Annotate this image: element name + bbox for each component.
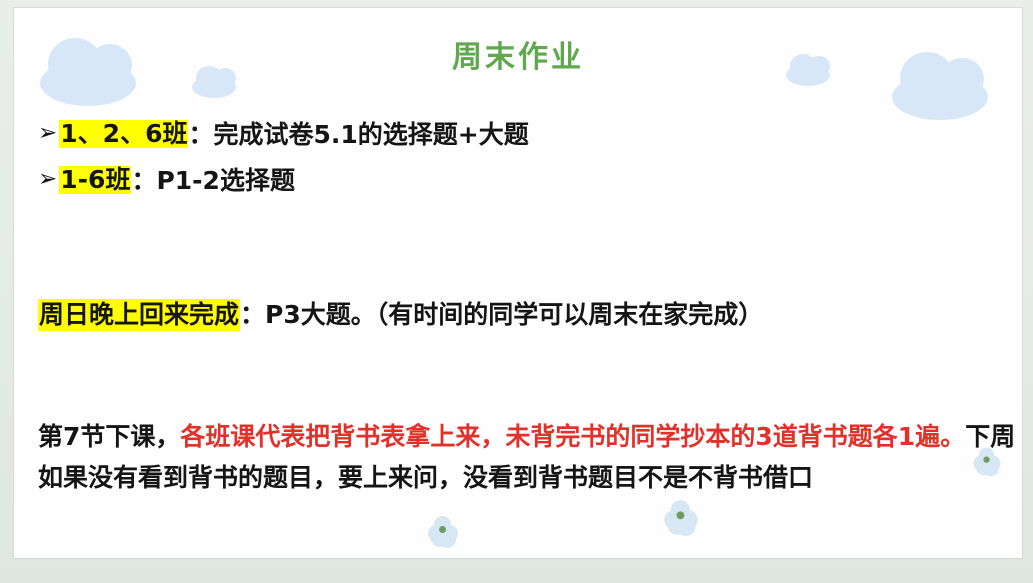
notice-paragraph: 第7节下课，各班课代表把背书表拿上来，未背完书的同学抄本的3道背书题各1遍。下周… (38, 416, 1018, 498)
notice-segment-black-1: 第7节下课， (38, 422, 180, 451)
page-title: 周末作业 (14, 32, 1022, 76)
cloud-icon (892, 74, 988, 120)
flower-icon (664, 500, 698, 534)
list-item: ➢ 1、2、6班 ：完成试卷5.1的选择题+大题 (38, 120, 1006, 148)
cloud-icon (192, 76, 236, 98)
slide-canvas: 周末作业 ➢ 1、2、6班 ：完成试卷5.1的选择题+大题 ➢ 1-6班 ：P1… (14, 8, 1022, 558)
list-item: ➢ 1-6班 ：P1-2选择题 (38, 166, 1006, 194)
sunday-deadline-highlight: 周日晚上回来完成 (38, 299, 240, 331)
arrow-bullet-icon: ➢ (38, 168, 57, 191)
sunday-deadline-line: 周日晚上回来完成：P3大题。（有时间的同学可以周末在家完成） (38, 302, 763, 327)
sunday-deadline-detail: ：P3大题。（有时间的同学可以周末在家完成） (240, 300, 763, 329)
flower-icon (428, 516, 458, 546)
list-item-detail: ：P1-2选择题 (131, 168, 295, 193)
arrow-bullet-icon: ➢ (38, 122, 57, 145)
flower-icon (974, 448, 1001, 475)
list-item-detail: ：完成试卷5.1的选择题+大题 (188, 122, 528, 147)
list-item-class-highlight: 1、2、6班 (59, 120, 188, 148)
notice-segment-red: 各班课代表把背书表拿上来，未背完书的同学抄本的3道背书题各1遍。 (180, 422, 965, 451)
slide-frame: 周末作业 ➢ 1、2、6班 ：完成试卷5.1的选择题+大题 ➢ 1-6班 ：P1… (0, 0, 1033, 583)
homework-list: ➢ 1、2、6班 ：完成试卷5.1的选择题+大题 ➢ 1-6班 ：P1-2选择题 (38, 120, 1006, 212)
list-item-class-highlight: 1-6班 (59, 166, 131, 194)
